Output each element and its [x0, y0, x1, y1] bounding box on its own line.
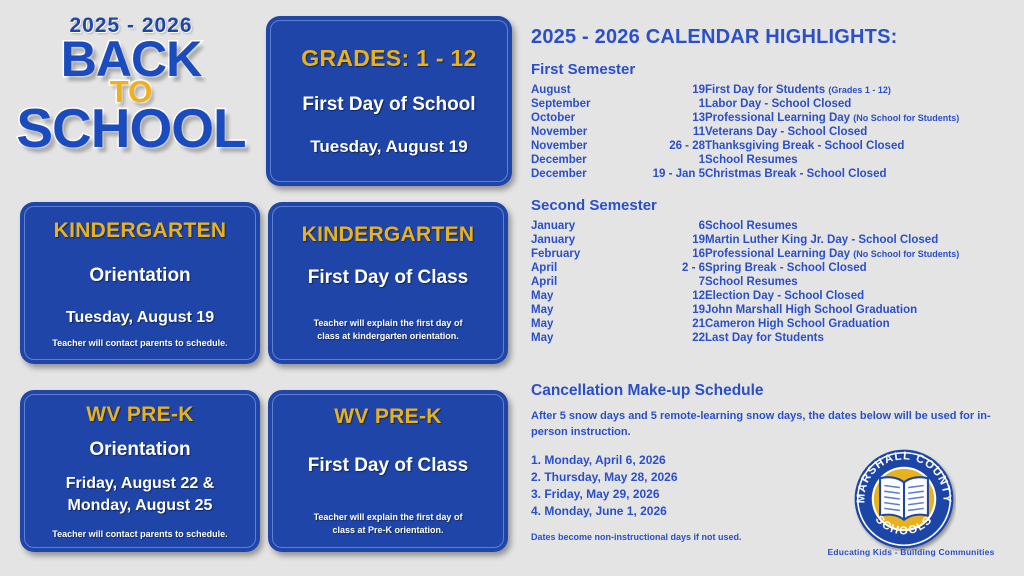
calendar-description-note: (No School for Students): [853, 113, 959, 123]
calendar-date: 19 - Jan 5: [619, 167, 705, 181]
calendar-row: January6School Resumes: [531, 219, 1017, 233]
sign-prek-orientation: WV PRE-K Orientation Friday, August 22 &…: [20, 390, 260, 552]
sign-prek-orientation-dates: Friday, August 22 & Monday, August 25: [30, 473, 250, 516]
calendar-date: 22: [619, 331, 705, 345]
calendar-description: Christmas Break - School Closed: [705, 167, 1017, 181]
calendar-description-note: (Grades 1 - 12): [828, 85, 891, 95]
calendar-description-main: School Resumes: [705, 220, 798, 232]
calendar-date: 1: [619, 97, 705, 111]
calendar-row: December19 - Jan 5Christmas Break - Scho…: [531, 167, 1017, 181]
calendar-month: April: [531, 261, 619, 275]
sign-kg-first-day-title: KINDERGARTEN: [278, 223, 498, 247]
calendar-date: 13: [619, 111, 705, 125]
calendar-date: 19: [619, 83, 705, 97]
calendar-row: May21Cameron High School Graduation: [531, 317, 1017, 331]
marshall-county-schools-logo: MARSHALL COUNTY SCHOOLS: [852, 447, 956, 551]
calendar-month: August: [531, 83, 619, 97]
sign-prek-first-day-line1: First Day of Class: [278, 455, 498, 477]
sign-grades-line2: Tuesday, August 19: [276, 137, 502, 157]
calendar-date: 11: [619, 125, 705, 139]
calendar-month: December: [531, 167, 619, 181]
calendar-month: May: [531, 331, 619, 345]
sign-grades-line1: First Day of School: [276, 94, 502, 116]
sign-kg-first-day-note: Teacher will explain the first day of cl…: [278, 317, 498, 343]
sign-prek-orientation-note: Teacher will contact parents to schedule…: [30, 529, 250, 539]
back-to-school-logo: 2025 - 2026 BACK TO SCHOOL: [0, 14, 262, 192]
sign-kg-orientation-line1: Orientation: [30, 265, 250, 287]
calendar-description: John Marshall High School Graduation: [705, 303, 1017, 317]
calendar-description: Election Day - School Closed: [705, 289, 1017, 303]
calendar-row: November11Veterans Day - School Closed: [531, 125, 1017, 139]
calendar-row: December1School Resumes: [531, 153, 1017, 167]
sign-prek-orientation-title: WV PRE-K: [30, 403, 250, 427]
calendar-description-main: First Day for Students: [705, 84, 825, 96]
calendar-description: Professional Learning Day (No School for…: [705, 111, 1017, 125]
calendar-month: November: [531, 125, 619, 139]
calendar-month: October: [531, 111, 619, 125]
calendar-description: Veterans Day - School Closed: [705, 125, 1017, 139]
calendar-description-main: School Resumes: [705, 154, 798, 166]
calendar-description-main: Election Day - School Closed: [705, 290, 864, 302]
calendar-description-main: Cameron High School Graduation: [705, 318, 890, 330]
calendar-description-main: Veterans Day - School Closed: [705, 126, 867, 138]
calendar-row: May22Last Day for Students: [531, 331, 1017, 345]
calendar-month: May: [531, 303, 619, 317]
calendar-description: School Resumes: [705, 219, 1017, 233]
calendar-row: August19First Day for Students (Grades 1…: [531, 83, 1017, 97]
calendar-row: November26 - 28Thanksgiving Break - Scho…: [531, 139, 1017, 153]
sign-kg-orientation-line2: Tuesday, August 19: [30, 309, 250, 327]
sign-prek-orientation-date1: Friday, August 22 &: [66, 475, 214, 492]
sign-kg-first-day-note-line2: class at kindergarten orientation.: [317, 331, 459, 341]
sign-prek-orientation-date2: Monday, August 25: [68, 497, 213, 514]
calendar-description: School Resumes: [705, 275, 1017, 289]
calendar-date: 12: [619, 289, 705, 303]
calendar-description-main: Professional Learning Day: [705, 112, 850, 124]
calendar-description: First Day for Students (Grades 1 - 12): [705, 83, 1017, 97]
calendar-month: April: [531, 275, 619, 289]
calendar-row: April7School Resumes: [531, 275, 1017, 289]
sign-grades-title: GRADES: 1 - 12: [276, 45, 502, 72]
calendar-description-main: Labor Day - School Closed: [705, 98, 851, 110]
calendar-description-main: Christmas Break - School Closed: [705, 168, 887, 180]
calendar-month: December: [531, 153, 619, 167]
sign-kg-first-day-note-line1: Teacher will explain the first day of: [314, 318, 463, 328]
calendar-month: May: [531, 317, 619, 331]
calendar-description-main: John Marshall High School Graduation: [705, 304, 917, 316]
second-semester-heading: Second Semester: [531, 197, 1017, 214]
calendar-date: 6: [619, 219, 705, 233]
sign-kindergarten-orientation: KINDERGARTEN Orientation Tuesday, August…: [20, 202, 260, 364]
calendar-description: Thanksgiving Break - School Closed: [705, 139, 1017, 153]
calendar-month: February: [531, 247, 619, 261]
sign-prek-orientation-line1: Orientation: [30, 439, 250, 461]
calendar-date: 21: [619, 317, 705, 331]
calendar-description: Labor Day - School Closed: [705, 97, 1017, 111]
cancellation-heading: Cancellation Make-up Schedule: [531, 382, 1001, 400]
sign-kg-first-day-line1: First Day of Class: [278, 267, 498, 289]
sign-prek-first-day: WV PRE-K First Day of Class Teacher will…: [268, 390, 508, 552]
sign-kg-orientation-title: KINDERGARTEN: [30, 219, 250, 243]
calendar-date: 19: [619, 233, 705, 247]
district-tagline: Educating Kids - Building Communities: [806, 547, 1016, 557]
sign-prek-first-day-title: WV PRE-K: [278, 405, 498, 429]
calendar-date: 26 - 28: [619, 139, 705, 153]
calendar-description: School Resumes: [705, 153, 1017, 167]
calendar-row: September1Labor Day - School Closed: [531, 97, 1017, 111]
first-semester-heading: First Semester: [531, 61, 1017, 78]
semester-spacer: [531, 181, 1017, 197]
calendar-description-note: (No School for Students): [853, 249, 959, 259]
calendar-description-main: Thanksgiving Break - School Closed: [705, 140, 904, 152]
calendar-row: February16Professional Learning Day (No …: [531, 247, 1017, 261]
sign-kg-orientation-note: Teacher will contact parents to schedule…: [30, 338, 250, 348]
calendar-description: Cameron High School Graduation: [705, 317, 1017, 331]
calendar-description: Professional Learning Day (No School for…: [705, 247, 1017, 261]
calendar-date: 2 - 6: [619, 261, 705, 275]
cancellation-paragraph: After 5 snow days and 5 remote-learning …: [531, 409, 1001, 441]
calendar-description: Spring Break - School Closed: [705, 261, 1017, 275]
sign-prek-first-day-note-line2: class at Pre-K orientation.: [332, 525, 443, 535]
calendar-highlights-title: 2025 - 2026 CALENDAR HIGHLIGHTS:: [531, 26, 1017, 49]
calendar-description-main: Professional Learning Day: [705, 248, 850, 260]
calendar-month: September: [531, 97, 619, 111]
calendar-row: May12Election Day - School Closed: [531, 289, 1017, 303]
second-semester-table: January6School ResumesJanuary19Martin Lu…: [531, 219, 1017, 345]
calendar-month: November: [531, 139, 619, 153]
calendar-description-main: Last Day for Students: [705, 332, 824, 344]
calendar-description-main: Spring Break - School Closed: [705, 262, 867, 274]
calendar-highlights-panel: 2025 - 2026 CALENDAR HIGHLIGHTS: First S…: [531, 26, 1017, 345]
calendar-description-main: Martin Luther King Jr. Day - School Clos…: [705, 234, 938, 246]
calendar-description: Martin Luther King Jr. Day - School Clos…: [705, 233, 1017, 247]
calendar-month: January: [531, 233, 619, 247]
district-seal-icon: MARSHALL COUNTY SCHOOLS: [852, 447, 956, 551]
calendar-date: 1: [619, 153, 705, 167]
sign-prek-first-day-note: Teacher will explain the first day of cl…: [278, 511, 498, 537]
calendar-date: 7: [619, 275, 705, 289]
calendar-date: 16: [619, 247, 705, 261]
calendar-date: 19: [619, 303, 705, 317]
logo-word-school: SCHOOL: [0, 102, 262, 154]
sign-prek-first-day-note-line1: Teacher will explain the first day of: [314, 512, 463, 522]
calendar-month: January: [531, 219, 619, 233]
calendar-row: April2 - 6Spring Break - School Closed: [531, 261, 1017, 275]
calendar-description-main: School Resumes: [705, 276, 798, 288]
first-semester-table: August19First Day for Students (Grades 1…: [531, 83, 1017, 181]
sign-kindergarten-first-day: KINDERGARTEN First Day of Class Teacher …: [268, 202, 508, 364]
calendar-row: May19John Marshall High School Graduatio…: [531, 303, 1017, 317]
calendar-row: October13Professional Learning Day (No S…: [531, 111, 1017, 125]
sign-grades-first-day: GRADES: 1 - 12 First Day of School Tuesd…: [266, 16, 512, 186]
calendar-row: January19Martin Luther King Jr. Day - Sc…: [531, 233, 1017, 247]
calendar-description: Last Day for Students: [705, 331, 1017, 345]
calendar-month: May: [531, 289, 619, 303]
